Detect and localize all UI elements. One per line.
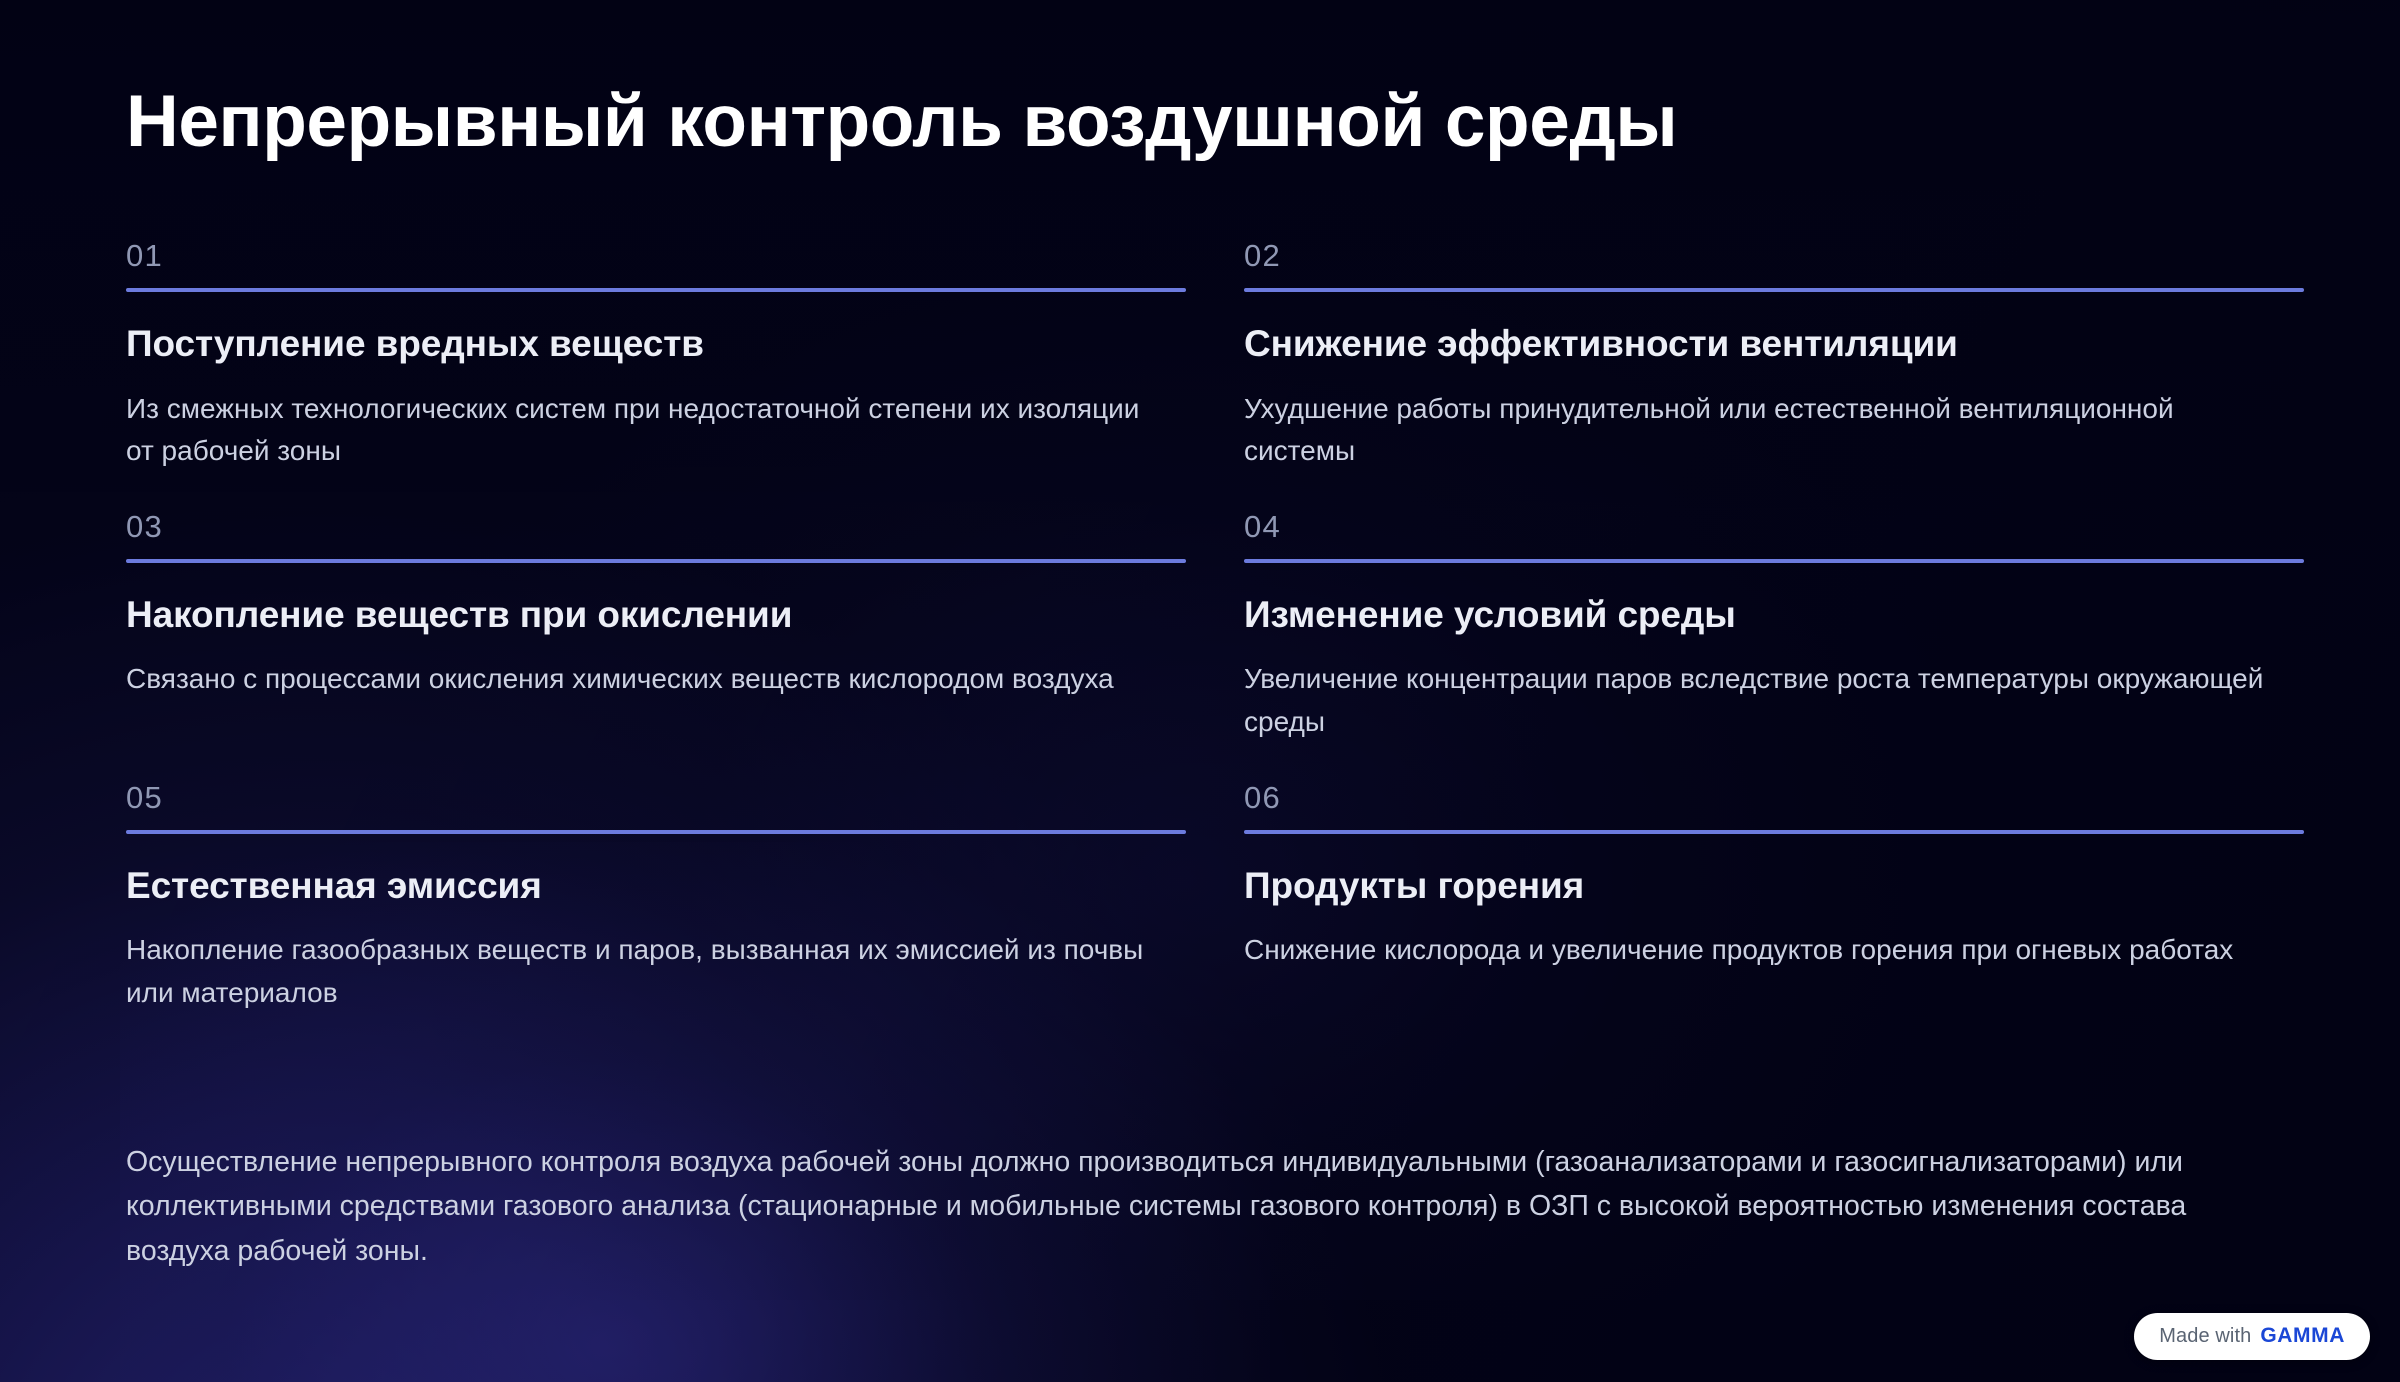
card-number: 03 [126,511,1216,542]
card-body-text: Накопление газообразных веществ и паров,… [126,929,1161,1014]
badge-brand-label: GAMMA [2260,1324,2345,1348]
card-heading: Поступление вредных веществ [126,322,1216,366]
card-04: 04 Изменение условий среды Увеличение ко… [1244,511,2334,744]
card-divider-rule [126,288,1186,292]
card-body-text: Снижение кислорода и увеличение продукто… [1244,929,2279,972]
card-divider-rule [126,559,1186,563]
card-heading: Снижение эффективности вентиляции [1244,322,2334,366]
card-heading: Накопление веществ при окислении [126,593,1216,637]
card-01: 01 Поступление вредных веществ Из смежны… [126,240,1216,473]
card-body-text: Увеличение концентрации паров вследствие… [1244,658,2279,743]
card-heading: Изменение условий среды [1244,593,2334,637]
card-body-text: Связано с процессами окисления химически… [126,658,1161,701]
card-heading: Естественная эмиссия [126,864,1216,908]
card-divider-rule [1244,830,2304,834]
card-number: 02 [1244,240,2334,271]
page-title: Непрерывный контроль воздушной среды [126,84,1677,161]
card-heading: Продукты горения [1244,864,2334,908]
cards-grid: 01 Поступление вредных веществ Из смежны… [126,240,2274,1014]
card-number: 04 [1244,511,2334,542]
card-02: 02 Снижение эффективности вентиляции Уху… [1244,240,2334,473]
card-number: 06 [1244,782,2334,813]
card-number: 05 [126,782,1216,813]
slide: Непрерывный контроль воздушной среды 01 … [0,0,2400,1382]
card-05: 05 Естественная эмиссия Накопление газоо… [126,782,1216,1015]
badge-prefix-label: Made with [2159,1325,2251,1348]
card-divider-rule [126,830,1186,834]
card-06: 06 Продукты горения Снижение кислорода и… [1244,782,2334,1015]
card-divider-rule [1244,288,2304,292]
card-number: 01 [126,240,1216,271]
footnote-paragraph: Осуществление непрерывного контроля возд… [126,1140,2256,1273]
card-divider-rule [1244,559,2304,563]
made-with-gamma-badge[interactable]: Made with GAMMA [2134,1313,2370,1360]
card-body-text: Из смежных технологических систем при не… [126,388,1161,473]
card-body-text: Ухудшение работы принудительной или есте… [1244,388,2279,473]
card-03: 03 Накопление веществ при окислении Связ… [126,511,1216,744]
